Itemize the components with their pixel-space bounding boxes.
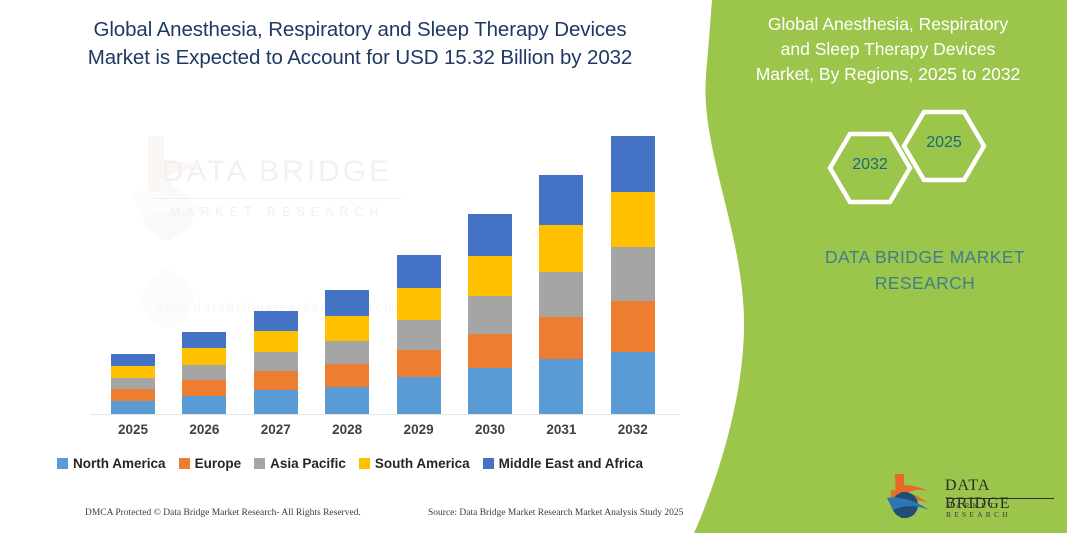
bar-2031 [539, 175, 583, 414]
bar-segment-asia-pacific [111, 378, 155, 389]
legend-swatch-middle-east-and-africa [483, 458, 494, 469]
legend-label-north-america: North America [73, 456, 166, 471]
x-axis-label-2027: 2027 [246, 422, 306, 437]
x-axis-label-2030: 2030 [460, 422, 520, 437]
bar-segment-north-america [254, 390, 298, 414]
bar-segment-middle-east-and-africa [468, 214, 512, 256]
legend-swatch-europe [179, 458, 190, 469]
x-axis-label-2025: 2025 [103, 422, 163, 437]
bar-segment-south-america [397, 288, 441, 320]
bar-2032 [611, 136, 655, 414]
bar-segment-middle-east-and-africa [611, 136, 655, 192]
footer: DMCA Protected © Data Bridge Market Rese… [0, 508, 700, 528]
bar-segment-north-america [468, 368, 512, 414]
x-axis-label-2028: 2028 [317, 422, 377, 437]
panel-brand-text: DATA BRIDGE MARKET RESEARCH [800, 244, 1050, 296]
bar-segment-asia-pacific [182, 365, 226, 380]
chart-area: Global Anesthesia, Respiratory and Sleep… [0, 0, 700, 533]
x-axis-line [90, 414, 680, 415]
bar-segment-europe [611, 301, 655, 352]
panel-brand-line2: RESEARCH [800, 270, 1050, 296]
legend-item-middle-east-and-africa[interactable]: Middle East and Africa [483, 456, 643, 471]
bar-segment-north-america [182, 396, 226, 414]
bar-2025 [111, 354, 155, 414]
legend-swatch-south-america [359, 458, 370, 469]
legend-item-north-america[interactable]: North America [57, 456, 166, 471]
logo-divider [946, 498, 1054, 499]
bar-2029 [397, 255, 441, 414]
legend-label-south-america: South America [375, 456, 470, 471]
bar-segment-asia-pacific [325, 341, 369, 364]
bar-segment-north-america [397, 377, 441, 414]
bar-segment-asia-pacific [254, 352, 298, 371]
bar-segment-europe [539, 317, 583, 359]
bar-segment-south-america [111, 366, 155, 378]
hexagon-2032-label: 2032 [840, 156, 900, 174]
bar-segment-asia-pacific [539, 272, 583, 317]
legend-swatch-north-america [57, 458, 68, 469]
legend-swatch-asia-pacific [254, 458, 265, 469]
legend-label-middle-east-and-africa: Middle East and Africa [499, 456, 643, 471]
legend-label-asia-pacific: Asia Pacific [270, 456, 346, 471]
bar-segment-middle-east-and-africa [539, 175, 583, 225]
bar-segment-north-america [611, 352, 655, 414]
bar-segment-asia-pacific [611, 247, 655, 301]
x-axis-labels: 20252026202720282029203020312032 [0, 422, 700, 444]
panel-title-line2: and Sleep Therapy Devices [718, 37, 1058, 62]
bar-2028 [325, 290, 369, 414]
x-axis-label-2026: 2026 [174, 422, 234, 437]
bar-segment-middle-east-and-africa [111, 354, 155, 366]
bar-segment-asia-pacific [468, 296, 512, 334]
bar-segment-south-america [539, 225, 583, 272]
chart-legend: North AmericaEuropeAsia PacificSouth Ame… [0, 452, 700, 474]
footer-source: Source: Data Bridge Market Research Mark… [428, 508, 683, 518]
bar-segment-south-america [468, 256, 512, 296]
footer-copyright: DMCA Protected © Data Bridge Market Rese… [85, 508, 361, 518]
watermark-divider [152, 198, 402, 199]
bar-2026 [182, 332, 226, 414]
panel-title: Global Anesthesia, Respiratory and Sleep… [718, 12, 1058, 87]
legend-item-south-america[interactable]: South America [359, 456, 470, 471]
panel-title-line3: Market, By Regions, 2025 to 2032 [718, 62, 1058, 87]
x-axis-label-2032: 2032 [603, 422, 663, 437]
bar-2027 [254, 311, 298, 414]
legend-item-asia-pacific[interactable]: Asia Pacific [254, 456, 346, 471]
legend-item-europe[interactable]: Europe [179, 456, 242, 471]
bar-segment-europe [468, 334, 512, 368]
x-axis-label-2031: 2031 [531, 422, 591, 437]
panel-brand-line1: DATA BRIDGE MARKET [800, 244, 1050, 270]
panel-title-line1: Global Anesthesia, Respiratory [718, 12, 1058, 37]
hexagon-2025-label: 2025 [914, 134, 974, 152]
chart-title: Global Anesthesia, Respiratory and Sleep… [60, 16, 660, 72]
bar-segment-middle-east-and-africa [325, 290, 369, 316]
watermark-brand: DATA BRIDGE [142, 155, 412, 189]
bar-segment-middle-east-and-africa [254, 311, 298, 331]
bar-segment-south-america [611, 192, 655, 247]
watermark-sub: MARKET RESEARCH [142, 205, 412, 219]
bar-segment-europe [254, 371, 298, 390]
infographic-canvas: Global Anesthesia, Respiratory and Sleep… [0, 0, 1067, 533]
chart-title-line2: Market is Expected to Account for USD 15… [60, 44, 660, 72]
chart-title-line1: Global Anesthesia, Respiratory and Sleep… [60, 16, 660, 44]
logo-text-sub: MARKET RESEARCH [946, 501, 1060, 519]
bar-segment-south-america [254, 331, 298, 352]
bar-segment-asia-pacific [397, 320, 441, 350]
legend-label-europe: Europe [195, 456, 242, 471]
x-axis-label-2029: 2029 [389, 422, 449, 437]
bar-segment-middle-east-and-africa [182, 332, 226, 348]
hexagon-badges: 2032 2025 [812, 108, 987, 208]
bar-segment-north-america [539, 359, 583, 414]
bar-segment-europe [325, 364, 369, 387]
databridge-logo-mark [885, 472, 941, 522]
bar-segment-south-america [182, 348, 226, 365]
bar-segment-europe [182, 380, 226, 396]
bar-segment-europe [111, 389, 155, 401]
bar-2030 [468, 214, 512, 414]
bar-segment-north-america [111, 401, 155, 414]
databridge-logo: DATA BRIDGE MARKET RESEARCH [885, 472, 1060, 524]
bar-segment-middle-east-and-africa [397, 255, 441, 288]
bar-segment-europe [397, 350, 441, 377]
bar-segment-south-america [325, 316, 369, 341]
bar-segment-north-america [325, 387, 369, 414]
